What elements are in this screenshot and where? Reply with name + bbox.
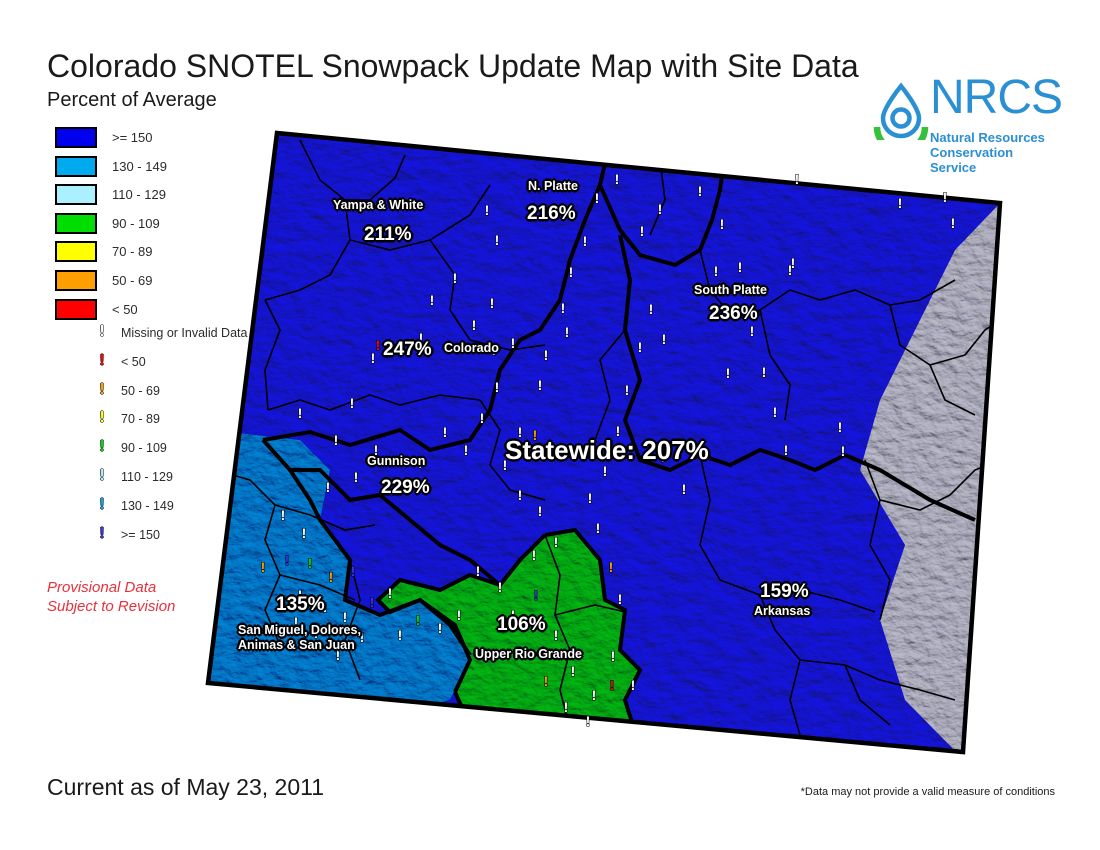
snotel-site-marker: !	[464, 442, 469, 458]
snotel-site-marker: !	[518, 487, 523, 503]
snotel-site-marker: !	[350, 395, 355, 411]
snotel-site-marker: !	[281, 507, 286, 523]
snotel-site-marker: !	[285, 552, 290, 568]
snotel-site-marker: !	[943, 189, 948, 205]
snotel-site-marker: !	[302, 525, 307, 541]
snotel-site-marker: !	[485, 202, 490, 218]
snotel-site-marker: !	[308, 555, 313, 571]
snotel-site-marker: !	[569, 264, 574, 280]
snotel-site-marker: !	[298, 405, 303, 421]
snotel-site-marker: !	[329, 569, 334, 585]
snotel-site-marker: !	[388, 585, 393, 601]
snotel-site-marker: !	[720, 216, 725, 232]
snotel-site-marker: !	[838, 419, 843, 435]
snotel-site-marker: !	[951, 215, 956, 231]
snotel-site-marker: !	[261, 559, 266, 575]
basin-name-label: Upper Rio Grande	[475, 647, 582, 662]
basin-percent-label: 135%	[276, 594, 325, 616]
basin-percent-label: 216%	[527, 203, 576, 225]
snotel-site-marker: !	[611, 648, 616, 664]
basin-percent-label: 106%	[497, 614, 546, 636]
snotel-site-marker: !	[762, 364, 767, 380]
snotel-site-marker: !	[564, 699, 569, 715]
snotel-site-marker: !	[561, 300, 566, 316]
snotel-site-marker: !	[511, 335, 516, 351]
snotel-site-marker: !	[795, 171, 800, 187]
snotel-site-marker: !	[354, 469, 359, 485]
snotel-site-marker: !	[495, 379, 500, 395]
snotel-site-marker: !	[609, 559, 614, 575]
snotel-site-marker: !	[334, 432, 339, 448]
basin-name-label: Yampa & White	[333, 198, 423, 213]
snotel-site-marker: !	[498, 579, 503, 595]
basin-name-label: San Miguel, Dolores,Animas & San Juan	[238, 623, 361, 653]
snotel-site-marker: !	[554, 627, 559, 643]
basin-name-label: Colorado	[444, 341, 499, 356]
snotel-site-marker: !	[495, 232, 500, 248]
footer-disclaimer: *Data may not provide a valid measure of…	[801, 786, 1055, 798]
snotel-site-marker: !	[480, 410, 485, 426]
footer-date: Current as of May 23, 2011	[47, 774, 324, 801]
snotel-site-marker: !	[615, 171, 620, 187]
snotel-site-marker: !	[841, 443, 846, 459]
snotel-site-marker: !	[538, 503, 543, 519]
snotel-site-marker: !	[658, 201, 663, 217]
basin-name-label: South Platte	[694, 283, 767, 298]
snotel-site-marker: !	[438, 620, 443, 636]
snotel-site-marker: !	[726, 365, 731, 381]
basin-name-label: Arkansas	[754, 604, 810, 619]
snotel-site-marker: !	[370, 594, 375, 610]
snotel-site-marker: !	[898, 195, 903, 211]
snotel-site-marker: !	[457, 607, 462, 623]
snotel-site-marker: !	[596, 520, 601, 536]
snotel-site-marker: !	[476, 563, 481, 579]
snotel-site-marker: !	[631, 677, 636, 693]
snotel-site-marker: !	[490, 295, 495, 311]
basin-percent-label: 236%	[709, 303, 758, 325]
snotel-site-marker: !	[738, 259, 743, 275]
snotel-site-marker: !	[398, 627, 403, 643]
snotel-site-marker: !	[351, 563, 356, 579]
snotel-site-marker: !	[588, 490, 593, 506]
snotel-site-marker: !	[618, 591, 623, 607]
snotel-site-marker: !	[592, 687, 597, 703]
snotel-site-marker: !	[472, 317, 477, 333]
snotel-site-marker: !	[371, 350, 376, 366]
snotel-site-marker: !	[640, 223, 645, 239]
snotel-site-marker: !	[773, 404, 778, 420]
snotel-site-marker: !	[565, 324, 570, 340]
snotel-site-marker: !	[534, 587, 539, 603]
snotel-site-marker: !	[544, 347, 549, 363]
snotel-site-marker: !	[538, 377, 543, 393]
snotel-site-marker: !	[554, 534, 559, 550]
snotel-site-marker: !	[583, 233, 588, 249]
snotel-site-marker: !	[698, 183, 703, 199]
statewide-label: Statewide: 207%	[505, 435, 709, 466]
snotel-site-marker: !	[625, 382, 630, 398]
colorado-snotel-map[interactable]: !!!!!!!!!!!!!!!!!!!!!!!!!!!!!!!!!!!!!!!!…	[0, 0, 1100, 850]
snotel-site-marker: !	[532, 547, 537, 563]
snotel-site-marker: !	[376, 337, 381, 353]
snotel-site-marker: !	[544, 673, 549, 689]
snotel-site-marker: !	[638, 339, 643, 355]
snotel-site-marker: !	[784, 442, 789, 458]
snotel-site-marker: !	[649, 301, 654, 317]
snotel-site-marker: !	[750, 323, 755, 339]
snotel-site-marker: !	[662, 331, 667, 347]
basin-percent-label: 247%	[383, 339, 432, 361]
basin-percent-label: 159%	[760, 581, 809, 603]
basin-name-label: N. Platte	[528, 179, 578, 194]
snotel-site-marker: !	[453, 270, 458, 286]
snotel-site-marker: !	[443, 424, 448, 440]
basin-name-label: Gunnison	[367, 454, 425, 469]
basin-percent-label: 229%	[381, 477, 430, 499]
snotel-site-marker: !	[682, 481, 687, 497]
snotel-site-marker: !	[430, 292, 435, 308]
snotel-site-marker: !	[595, 190, 600, 206]
basin-percent-label: 211%	[364, 224, 412, 246]
snotel-site-marker: !	[610, 677, 615, 693]
snotel-site-marker: !	[326, 479, 331, 495]
snotel-site-marker: !	[571, 663, 576, 679]
snotel-site-marker: !	[788, 262, 793, 278]
snotel-site-marker: !	[416, 612, 421, 628]
snotel-site-marker: !	[586, 713, 591, 729]
snotel-site-marker: !	[714, 263, 719, 279]
